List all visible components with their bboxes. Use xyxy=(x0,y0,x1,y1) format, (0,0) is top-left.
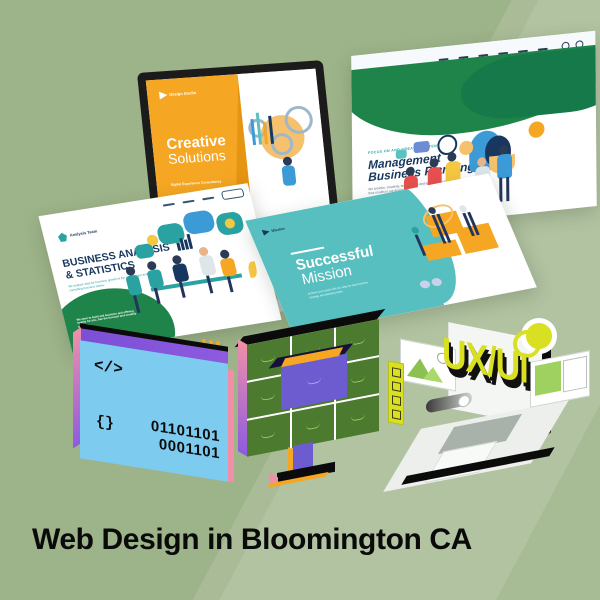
cabinet-drawer-9[interactable] xyxy=(336,395,379,439)
tool-icon-4[interactable] xyxy=(392,409,401,420)
card-logo: Analysis Team xyxy=(57,227,98,242)
nav-dash-3[interactable] xyxy=(202,196,214,200)
code-tag-icon: </> xyxy=(94,356,123,379)
tool-palette[interactable] xyxy=(388,360,404,425)
filing-cabinet[interactable] xyxy=(247,319,379,457)
nav-dash-1[interactable] xyxy=(163,202,175,206)
get-quote-button[interactable] xyxy=(221,188,245,200)
window-right-edge xyxy=(227,370,234,483)
star-logo-icon xyxy=(57,232,68,242)
uxui-laptop-scene[interactable]: UX/UI xyxy=(390,322,575,490)
cabinet-drawer-7[interactable] xyxy=(247,413,290,457)
nav-dash-2[interactable] xyxy=(182,199,194,203)
cabinet-left-edge xyxy=(238,339,247,456)
code-window-card[interactable]: </> {} 01101101 0001101 xyxy=(80,340,228,481)
page-title: Web Design in Bloomington CA xyxy=(32,523,472,557)
code-brace-icon: {} xyxy=(96,413,114,433)
screen-heading: Creative Solutions xyxy=(166,133,228,167)
arrow-logo-icon xyxy=(262,229,271,236)
arrow-logo-icon xyxy=(365,88,371,95)
tool-icon-3[interactable] xyxy=(392,395,401,406)
window-dot-1[interactable] xyxy=(202,339,206,344)
window-body: </> {} 01101101 0001101 xyxy=(80,340,228,481)
tool-icon-1[interactable] xyxy=(392,367,401,378)
screen-logo-label: Design Studio xyxy=(169,91,196,97)
illustration-canvas: Business FOCUS ON AND CREATE CONTENT Man… xyxy=(0,0,600,600)
window-dot-3[interactable] xyxy=(216,341,220,346)
tool-icon-2[interactable] xyxy=(392,381,401,392)
window-dot-2[interactable] xyxy=(209,340,213,345)
person-body xyxy=(281,165,296,186)
wireframe-block xyxy=(535,361,561,396)
mountain-icon-secondary xyxy=(423,365,443,383)
binary-text: 01101101 0001101 xyxy=(151,418,220,463)
card-logo-label: Analysis Team xyxy=(70,230,98,239)
business-analysis-card[interactable]: Analysis Team BUSINESS ANALYSIS & STATIS… xyxy=(38,183,281,353)
wireframe-placeholder xyxy=(563,356,587,393)
bird-logo-icon xyxy=(159,91,168,100)
